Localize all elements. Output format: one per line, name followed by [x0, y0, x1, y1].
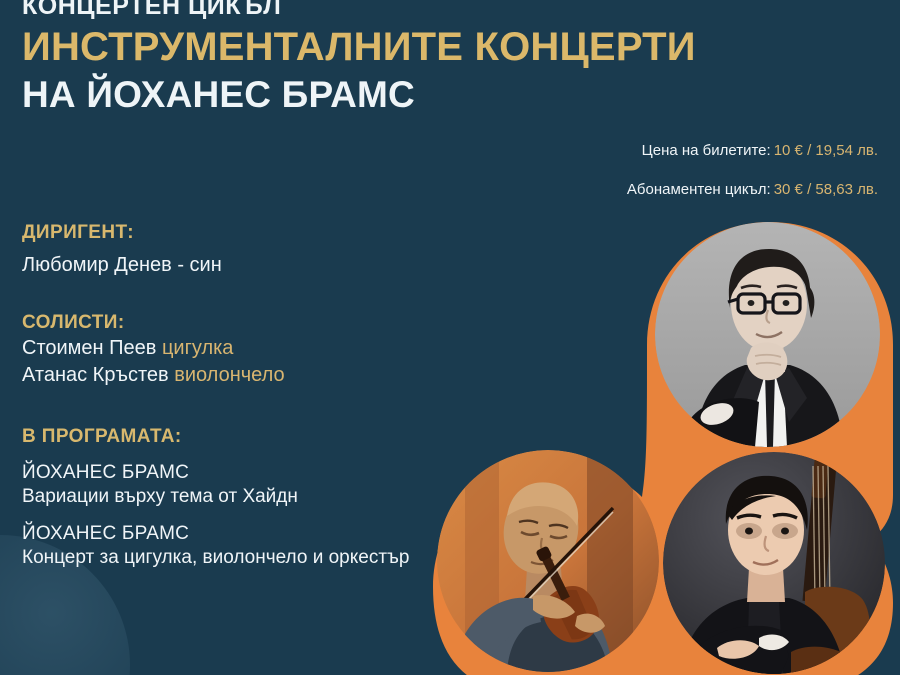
page-title: ИНСТРУМЕНТАЛНИТЕ КОНЦЕРТИ — [22, 24, 762, 71]
work-composer: ЙОХАНЕС БРАМС — [22, 522, 442, 546]
conductor-name: Любомир Денев - син — [22, 252, 442, 279]
soloists-block: СОЛИСТИ: Стоимен Пеев цигулка Атанас Кръ… — [22, 312, 442, 388]
violinist-portrait — [437, 450, 659, 672]
soloist-name: Стоимен Пеев — [22, 337, 156, 359]
headline-block: КОНЦЕРТЕН ЦИКЪЛ ИНСТРУМЕНТАЛНИТЕ КОНЦЕРТ… — [22, 0, 762, 117]
work-title: Концерт за цигулка, виолончело и оркестъ… — [22, 546, 442, 571]
conductor-block: ДИРИГЕНТ: Любомир Денев - син — [22, 222, 442, 278]
work-composer: ЙОХАНЕС БРАМС — [22, 461, 442, 485]
program-heading: В ПРОГРАМАТА: — [22, 426, 442, 449]
info-column: ДИРИГЕНТ: Любомир Денев - син СОЛИСТИ: С… — [22, 222, 442, 571]
program-block: В ПРОГРАМАТА: ЙОХАНЕС БРАМС Вариации вър… — [22, 426, 442, 571]
conductor-portrait — [655, 222, 880, 447]
ticket-price-value: 10 € / 19,54 лв. — [774, 142, 878, 159]
conductor-heading: ДИРИГЕНТ: — [22, 222, 442, 245]
soloist-instrument: цигулка — [162, 337, 233, 359]
program-work: ЙОХАНЕС БРАМС Концерт за цигулка, виолон… — [22, 522, 442, 571]
cellist-portrait — [663, 452, 885, 674]
concert-poster: КОНЦЕРТЕН ЦИКЪЛ ИНСТРУМЕНТАЛНИТЕ КОНЦЕРТ… — [0, 0, 900, 675]
soloist-row: Атанас Кръстев виолончело — [22, 362, 442, 389]
soloist-row: Стоимен Пеев цигулка — [22, 335, 442, 362]
ticket-price-label: Цена на билетите: — [642, 142, 771, 159]
soloist-instrument: виолончело — [174, 364, 284, 386]
work-title: Вариации върху тема от Хайдн — [22, 485, 442, 510]
program-work: ЙОХАНЕС БРАМС Вариации върху тема от Хай… — [22, 461, 442, 510]
page-subtitle: НА ЙОХАНЕС БРАМС — [22, 73, 762, 117]
soloist-name: Атанас Кръстев — [22, 364, 169, 386]
price-block: Цена на билетите:10 € / 19,54 лв. Абонам… — [627, 142, 878, 200]
ticket-price-row: Цена на билетите:10 € / 19,54 лв. — [627, 142, 878, 161]
poster-kicker: КОНЦЕРТЕН ЦИКЪЛ — [22, 0, 762, 21]
soloists-heading: СОЛИСТИ: — [22, 312, 442, 335]
